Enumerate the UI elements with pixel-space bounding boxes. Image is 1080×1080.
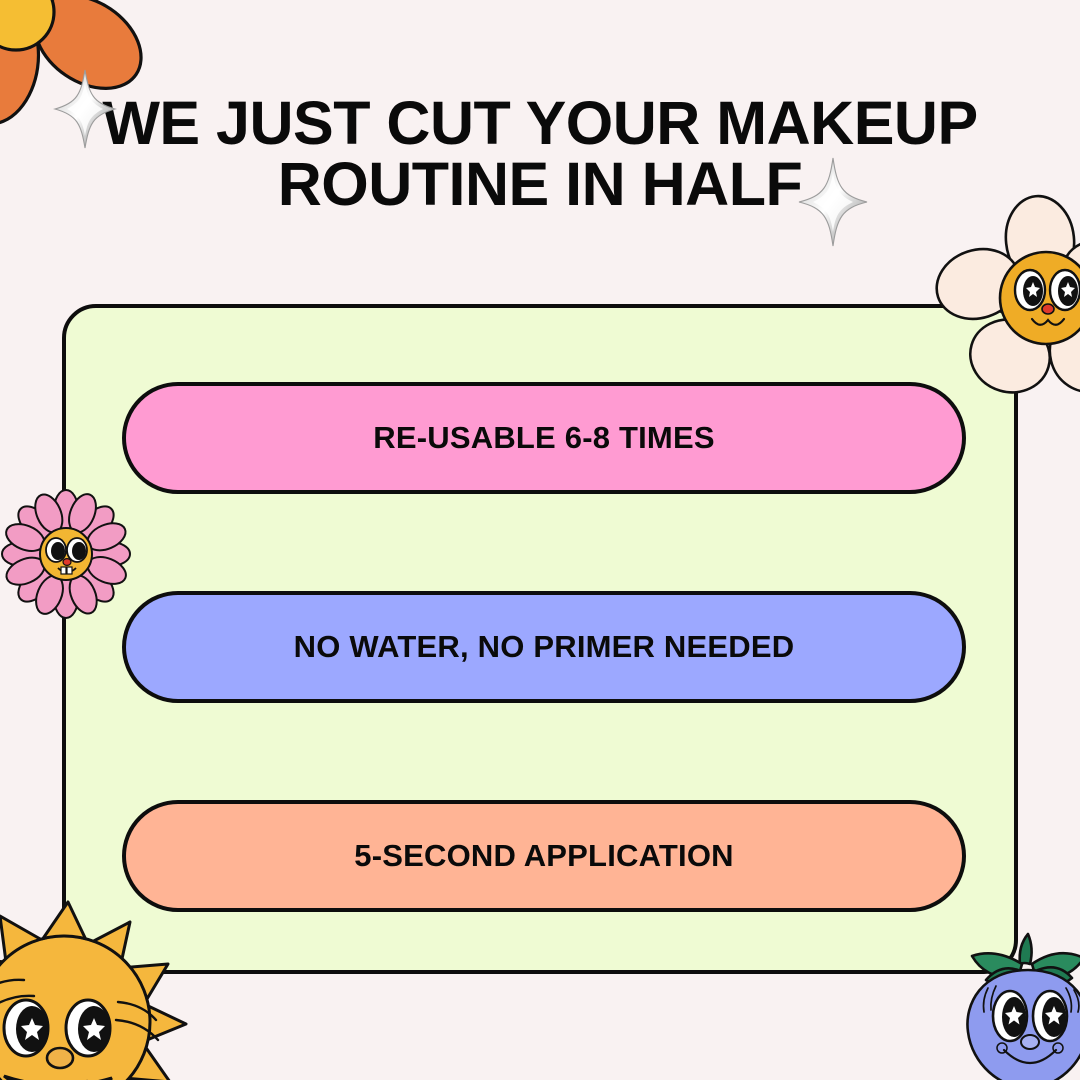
poster-canvas: WE JUST CUT YOUR MAKEUP ROUTINE IN HALF … [0,0,1080,1080]
sparkle-star-icon [53,68,117,150]
feature-pill-label: NO WATER, NO PRIMER NEEDED [294,629,795,665]
daisy-flower-icon [948,216,1080,406]
blue-strawberry-icon [958,930,1080,1080]
feature-pill-label: RE-USABLE 6-8 TIMES [373,420,714,456]
page-title: WE JUST CUT YOUR MAKEUP ROUTINE IN HALF [0,93,1080,215]
feature-pill[interactable]: RE-USABLE 6-8 TIMES [122,382,966,494]
sparkle-star-icon [797,156,869,248]
smiling-sun-icon [0,900,188,1080]
feature-pill[interactable]: 5-SECOND APPLICATION [122,800,966,912]
features-card: RE-USABLE 6-8 TIMES NO WATER, NO PRIMER … [62,304,1018,974]
feature-pill[interactable]: NO WATER, NO PRIMER NEEDED [122,591,966,703]
feature-pill-label: 5-SECOND APPLICATION [354,838,733,874]
pink-flower-icon [8,496,124,612]
feature-pill-list: RE-USABLE 6-8 TIMES NO WATER, NO PRIMER … [122,382,966,912]
